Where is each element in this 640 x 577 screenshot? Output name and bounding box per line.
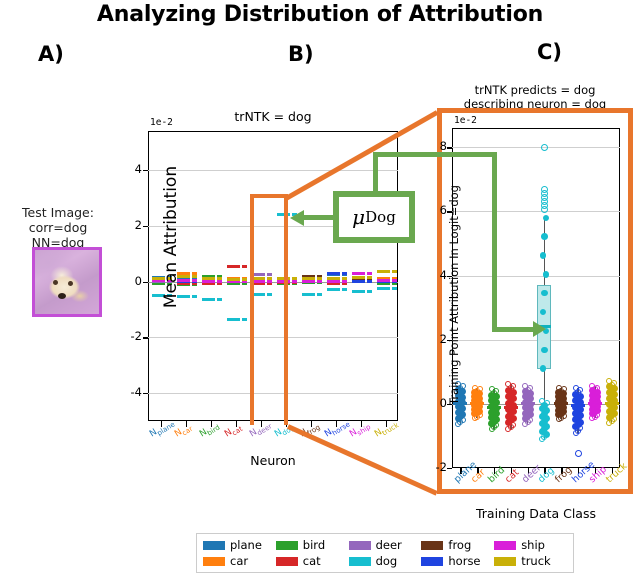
panelB-marker	[317, 293, 322, 296]
panelB-marker	[377, 279, 390, 282]
panelC-point	[540, 365, 547, 372]
panelB-marker	[392, 270, 397, 273]
test-image-thumbnail	[32, 247, 102, 317]
panelC-point	[573, 385, 579, 391]
panel-letter-c: C)	[537, 40, 562, 64]
legend-label-bird: bird	[303, 538, 325, 552]
panelB-marker	[217, 298, 222, 301]
panelB-marker	[352, 290, 365, 293]
legend-item-deer: deer	[349, 538, 422, 552]
panelC-point	[541, 233, 548, 240]
panelB-marker	[342, 277, 347, 280]
legend-item-bird: bird	[276, 538, 349, 552]
panelB-ytick-mark	[143, 170, 148, 171]
legend-label-plane: plane	[230, 538, 262, 552]
panelB-marker	[192, 275, 197, 278]
panelC-point	[472, 385, 478, 391]
legend-label-deer: deer	[376, 538, 402, 552]
panelB-marker	[292, 277, 297, 280]
panel-c-chart: 1e-2 86420-2 planecarbirdcatdeerdogfrogh…	[452, 128, 620, 468]
panelC-point	[541, 290, 548, 297]
panelB-ytick-2: 2	[116, 218, 142, 232]
panelB-xtick-truck: Ntruck	[373, 418, 400, 441]
legend-label-frog: frog	[448, 538, 471, 552]
legend-item-dog: dog	[349, 554, 422, 568]
panelB-marker	[352, 272, 365, 275]
mu-arrow-shaft-panelB	[303, 215, 333, 220]
panelC-ytick--2: -2	[424, 460, 447, 474]
legend-label-dog: dog	[376, 554, 398, 568]
caption-line-2: corr=dog	[2, 220, 114, 235]
panelB-ytick-0: 0	[116, 274, 142, 288]
panelB-marker	[367, 276, 372, 279]
mu-dog-label: μDog	[339, 197, 409, 237]
panelB-y-exponent: 1e-2	[150, 117, 173, 128]
panelB-xtick-car: Ncar	[173, 422, 194, 441]
gridline	[452, 147, 620, 148]
legend-label-truck: truck	[521, 554, 551, 568]
gridline	[148, 170, 398, 171]
mu-dog-annotation-box: μDog	[333, 191, 415, 243]
legend-label-cat: cat	[303, 554, 321, 568]
panelC-point	[541, 186, 548, 193]
panelB-marker	[202, 298, 215, 301]
panelB-ytick--4: -4	[116, 385, 142, 399]
panelB-xtick-bird: Nbird	[198, 420, 221, 441]
mu-arrowhead-panelC	[533, 321, 546, 337]
panelB-marker	[367, 290, 372, 293]
test-image-caption: Test Image: corr=dog NN=dog	[2, 205, 114, 250]
legend-item-cat: cat	[276, 554, 349, 568]
panelC-ytick-0: 0	[424, 396, 447, 410]
legend-item-truck: truck	[494, 554, 567, 568]
panelB-marker	[377, 270, 390, 273]
legend-swatch-frog	[421, 541, 443, 550]
panelC-title: trNTK predicts = dog describing neuron =…	[432, 84, 638, 111]
panelB-marker	[327, 272, 340, 275]
panelB-marker	[302, 293, 315, 296]
mu-connector-into-c	[492, 327, 534, 332]
legend-item-frog: frog	[421, 538, 494, 552]
panelC-xlabel: Training Data Class	[440, 506, 632, 521]
panelB-xtick-cat: Ncat	[223, 422, 244, 441]
gridline	[452, 340, 620, 341]
panelC-point	[543, 271, 550, 278]
mu-connector-down-to-c	[492, 152, 497, 332]
panelB-ytick-mark	[143, 393, 148, 394]
panelB-marker	[342, 288, 347, 291]
legend-swatch-cat	[276, 557, 298, 566]
panelB-marker	[367, 280, 372, 283]
legend-swatch-truck	[494, 557, 516, 566]
legend-swatch-plane	[203, 541, 225, 550]
panelB-marker	[242, 265, 247, 268]
panelB-marker	[317, 277, 322, 280]
panelB-marker	[227, 278, 240, 281]
panelB-ytick-4: 4	[116, 162, 142, 176]
panelC-title-line-1: trNTK predicts = dog	[432, 84, 638, 98]
panelC-ylabel: Training Point Attribution In Logit=dog	[447, 125, 461, 465]
zoom-highlight-box	[250, 194, 288, 425]
panelB-marker	[377, 287, 390, 290]
mu-connector-horizontal	[373, 152, 497, 157]
legend-swatch-ship	[494, 541, 516, 550]
panelB-ylabel: Mean Attribution	[161, 142, 181, 332]
figure-title: Analyzing Distribution of Attribution	[0, 2, 640, 27]
legend-label-car: car	[230, 554, 248, 568]
class-color-legend: planebirddeerfrogshipcarcatdoghorsetruck	[196, 533, 574, 573]
legend-swatch-car	[203, 557, 225, 566]
legend-label-ship: ship	[521, 538, 545, 552]
gridline	[452, 276, 620, 277]
caption-line-1: Test Image:	[2, 205, 114, 220]
panelB-marker	[227, 318, 240, 321]
legend-item-ship: ship	[494, 538, 567, 552]
panelB-xtick-ship: Nship	[348, 420, 372, 441]
panelB-title: trNTK = dog	[148, 109, 398, 124]
panelB-marker	[202, 280, 215, 283]
legend-swatch-deer	[349, 541, 371, 550]
panel-letter-b: B)	[288, 42, 314, 66]
panelB-ytick--2: -2	[116, 329, 142, 343]
panelB-marker	[392, 279, 397, 282]
panelC-point	[594, 385, 600, 391]
panelB-ytick-mark	[143, 226, 148, 227]
panelB-marker	[352, 276, 365, 279]
panelB-marker	[367, 272, 372, 275]
mu-symbol: μ	[352, 205, 365, 229]
panel-letter-a: A)	[38, 42, 64, 66]
panelC-ytick-2: 2	[424, 332, 447, 346]
legend-swatch-dog	[349, 557, 371, 566]
panelB-marker	[342, 272, 347, 275]
panelB-marker	[192, 279, 197, 282]
panelC-ytick-mark	[447, 468, 452, 469]
panelB-ytick-mark	[143, 337, 148, 338]
panelB-marker	[192, 295, 197, 298]
panelB-marker	[327, 288, 340, 291]
legend-item-horse: horse	[421, 554, 494, 568]
panelC-point	[541, 347, 548, 354]
legend-swatch-horse	[421, 557, 443, 566]
panelC-ytick-4: 4	[424, 268, 447, 282]
legend-item-plane: plane	[203, 538, 276, 552]
panelC-point	[539, 398, 545, 404]
panelB-marker	[392, 287, 397, 290]
mu-arrowhead-panelB	[290, 210, 304, 226]
panelB-marker	[217, 277, 222, 280]
legend-item-car: car	[203, 554, 276, 568]
legend-swatch-bird	[276, 541, 298, 550]
panelB-ytick-mark	[143, 282, 148, 283]
panelC-point	[541, 144, 548, 151]
panelB-marker	[352, 280, 365, 283]
panelC-point	[540, 252, 547, 259]
panelC-point	[556, 385, 562, 391]
panelB-marker	[302, 277, 315, 280]
panelC-ytick-6: 6	[424, 203, 447, 217]
panelB-marker	[242, 278, 247, 281]
panelB-marker	[227, 265, 240, 268]
panelB-marker	[202, 277, 215, 280]
gridline	[452, 211, 620, 212]
legend-label-horse: horse	[448, 554, 480, 568]
mu-subscript: Dog	[365, 208, 396, 226]
panelB-marker	[242, 318, 247, 321]
mu-connector-vertical	[373, 152, 378, 194]
panelC-point	[575, 450, 582, 457]
panelC-point	[606, 378, 612, 384]
panelB-marker	[327, 277, 340, 280]
panelB-marker	[217, 280, 222, 283]
